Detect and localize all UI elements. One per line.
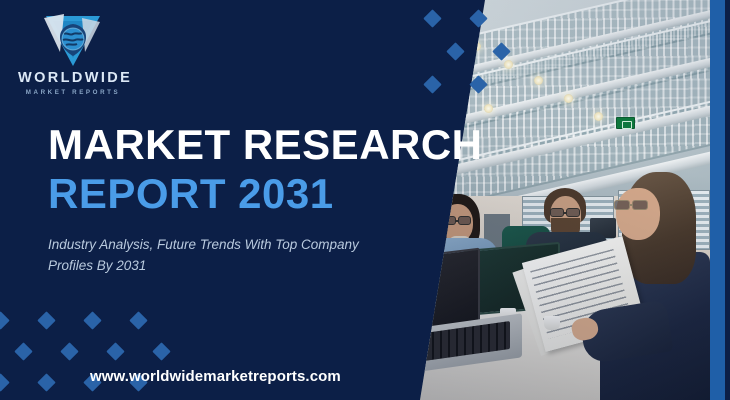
- website-url[interactable]: www.worldwidemarketreports.com: [90, 368, 341, 385]
- eyeglasses-lens: [632, 200, 648, 210]
- sunglasses-lens: [458, 216, 471, 225]
- page-title-line-2: REPORT 2031: [48, 171, 468, 216]
- diamond-decoration: [423, 75, 441, 93]
- diamond-decoration: [37, 311, 55, 329]
- page-title-line-1: MARKET RESEARCH: [48, 124, 468, 167]
- diamond-decoration: [83, 311, 101, 329]
- logo-name-secondary: MARKET REPORTS: [18, 89, 128, 96]
- pendant-light: [564, 94, 573, 103]
- diamond-decoration: [0, 373, 10, 391]
- diamond-decoration: [0, 311, 10, 329]
- eyeglasses-lens: [614, 200, 630, 210]
- diamond-decoration: [14, 342, 32, 360]
- pendant-light: [594, 112, 603, 121]
- diamond-decoration: [37, 373, 55, 391]
- pendant-light: [454, 86, 463, 95]
- logo-name-primary: WORLDWIDE: [18, 70, 128, 86]
- glasses-bridge: [564, 212, 567, 214]
- brand-logo[interactable]: WORLDWIDE MARKET REPORTS: [18, 12, 128, 102]
- diamond-decoration: [129, 311, 147, 329]
- page-subtitle: Industry Analysis, Future Trends With To…: [48, 235, 378, 277]
- eyeglasses-lens: [566, 208, 580, 217]
- diamond-decoration: [423, 9, 441, 27]
- pendant-light: [504, 60, 513, 69]
- pendant-light: [534, 76, 543, 85]
- triangle-globe-icon: [40, 12, 106, 70]
- diamond-decoration: [106, 342, 124, 360]
- headline-block: MARKET RESEARCH REPORT 2031: [48, 124, 468, 216]
- face: [616, 188, 660, 240]
- sunglasses-lens: [443, 216, 456, 225]
- emergency-exit-sign: [616, 117, 635, 129]
- diamond-pattern-bottom-left: [0, 300, 294, 400]
- glasses-bridge: [456, 220, 459, 222]
- diamond-decoration: [152, 342, 170, 360]
- pendant-light: [484, 104, 493, 113]
- right-outer-edge: [725, 0, 730, 400]
- coffee-cup: [544, 316, 560, 330]
- eyeglasses-lens: [550, 208, 564, 217]
- diamond-decoration: [446, 42, 464, 60]
- glasses-bridge: [629, 204, 633, 206]
- pendant-light: [472, 42, 481, 51]
- light-rod: [476, 34, 478, 44]
- right-accent-stripe: [710, 0, 725, 400]
- diamond-decoration: [60, 342, 78, 360]
- marketing-banner: WORLDWIDE MARKET REPORTS MARKET RESEARCH…: [0, 0, 730, 400]
